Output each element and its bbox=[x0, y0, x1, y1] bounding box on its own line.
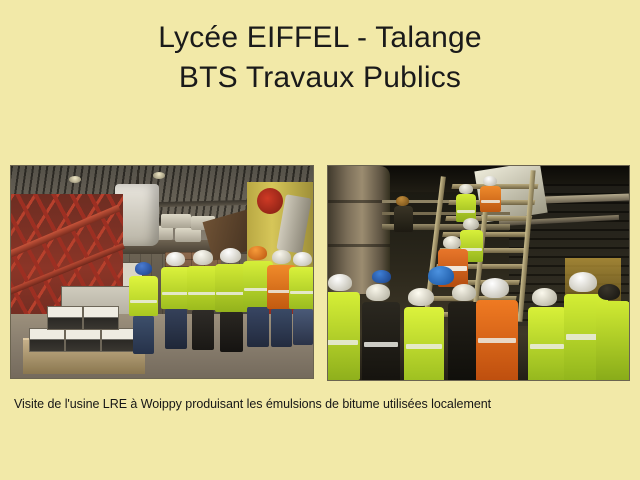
reflective-band bbox=[364, 342, 398, 347]
white-hard-hat bbox=[483, 176, 497, 186]
reflective-band bbox=[290, 291, 314, 294]
legs bbox=[133, 316, 154, 354]
title-line-1: Lycée EIFFEL - Talange bbox=[0, 18, 640, 58]
stacked-sack bbox=[161, 214, 191, 228]
sample-tray bbox=[65, 328, 101, 352]
photo-warehouse-visit bbox=[10, 165, 314, 379]
sample-tray bbox=[83, 306, 119, 330]
legs bbox=[247, 307, 269, 347]
ceiling-lamp bbox=[153, 172, 165, 179]
stacked-sack bbox=[175, 228, 201, 242]
hivis-vest bbox=[289, 267, 314, 309]
white-hard-hat bbox=[193, 250, 213, 265]
legs bbox=[165, 309, 187, 349]
slide-title: Lycée EIFFEL - Talange BTS Travaux Publi… bbox=[0, 18, 640, 98]
reflective-band bbox=[457, 210, 475, 213]
hivis-vest bbox=[327, 292, 360, 380]
orange-hivis-vest bbox=[480, 186, 501, 212]
white-hard-hat bbox=[272, 250, 291, 264]
reflective-band bbox=[481, 200, 500, 203]
photo-right-scene bbox=[328, 166, 629, 380]
title-line-2: BTS Travaux Publics bbox=[0, 58, 640, 98]
dark-hard-hat bbox=[396, 196, 409, 206]
white-hard-hat bbox=[463, 218, 479, 230]
sample-tray bbox=[101, 328, 137, 352]
photo-left-scene bbox=[11, 166, 313, 378]
reflective-band bbox=[162, 292, 190, 295]
reflective-band bbox=[478, 338, 516, 343]
white-hard-hat bbox=[220, 248, 241, 263]
white-hard-hat bbox=[408, 288, 434, 306]
legs bbox=[293, 309, 313, 345]
white-hard-hat bbox=[569, 272, 597, 292]
silo-ring bbox=[328, 200, 390, 203]
red-hose-reel bbox=[257, 188, 283, 214]
hivis-vest bbox=[596, 301, 630, 381]
legs bbox=[220, 312, 243, 352]
reflective-band bbox=[130, 300, 157, 303]
dark-hood bbox=[598, 284, 620, 300]
white-hard-hat bbox=[293, 252, 312, 266]
legs bbox=[271, 309, 292, 347]
white-hard-hat bbox=[366, 284, 390, 301]
orange-hard-hat bbox=[248, 246, 267, 260]
silo-ring bbox=[328, 244, 390, 247]
blue-hard-hat bbox=[428, 266, 454, 285]
reflective-band bbox=[530, 344, 564, 349]
dark-jacket bbox=[394, 206, 413, 232]
white-hard-hat bbox=[452, 284, 476, 301]
sample-tray bbox=[47, 306, 83, 330]
white-hard-hat bbox=[532, 288, 557, 306]
white-hard-hat bbox=[481, 278, 509, 298]
white-hard-hat bbox=[166, 252, 185, 266]
slide-caption: Visite de l'usine LRE à Woippy produisan… bbox=[14, 396, 628, 412]
photo-row bbox=[10, 165, 630, 379]
presentation-slide: Lycée EIFFEL - Talange BTS Travaux Publi… bbox=[0, 0, 640, 480]
ceiling-lamp bbox=[69, 176, 81, 183]
white-hard-hat bbox=[459, 184, 473, 194]
blue-hard-hat bbox=[135, 262, 152, 275]
hivis-vest bbox=[129, 276, 158, 316]
reflective-band bbox=[327, 340, 358, 345]
white-hard-hat bbox=[328, 274, 352, 291]
sample-tray bbox=[29, 328, 65, 352]
reflective-band bbox=[406, 344, 442, 349]
white-hard-hat bbox=[443, 236, 461, 249]
blue-hard-hat bbox=[372, 270, 391, 283]
legs bbox=[192, 310, 214, 350]
photo-stairs-silo bbox=[327, 165, 630, 381]
reflective-band bbox=[188, 292, 218, 295]
